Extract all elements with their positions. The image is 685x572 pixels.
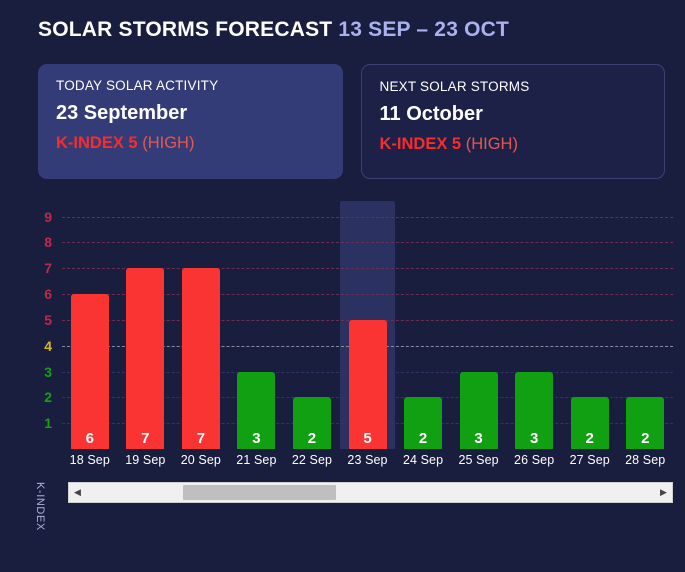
- bar-slot[interactable]: 5: [340, 201, 396, 449]
- bar-value-label: 2: [308, 431, 316, 446]
- bar-value-label: 3: [252, 431, 260, 446]
- k-index-chart: 987654321 67732523322 18 Sep19 Sep20 Sep…: [0, 201, 685, 521]
- bar-slot[interactable]: 7: [118, 201, 174, 449]
- summary-cards: TODAY SOLAR ACTIVITY 23 September K-INDE…: [0, 44, 685, 179]
- bar-slot[interactable]: 6: [62, 201, 118, 449]
- forecast-date-range: 13 SEP – 23 OCT: [338, 18, 509, 41]
- bar[interactable]: 5: [349, 320, 387, 449]
- bar[interactable]: 6: [71, 294, 109, 449]
- bar-slot[interactable]: 7: [173, 201, 229, 449]
- card-today-solar-activity[interactable]: TODAY SOLAR ACTIVITY 23 September K-INDE…: [38, 64, 343, 179]
- bar-value-label: 2: [419, 431, 427, 446]
- bar-slot[interactable]: 3: [506, 201, 562, 449]
- y-axis-tick: 8: [44, 235, 52, 249]
- x-axis-tick: 18 Sep: [62, 453, 118, 467]
- y-axis-ticks: 987654321: [30, 201, 52, 449]
- x-axis-tick: 23 Sep: [340, 453, 396, 467]
- bar-slot[interactable]: 3: [451, 201, 507, 449]
- x-axis-tick: 20 Sep: [173, 453, 229, 467]
- chart-horizontal-scrollbar[interactable]: ◀ ▶: [68, 482, 673, 503]
- bar-series: 67732523322: [62, 201, 673, 449]
- bar-value-label: 3: [530, 431, 538, 446]
- y-axis-tick: 2: [44, 390, 52, 404]
- x-axis-tick: 28 Sep: [617, 453, 673, 467]
- bar-slot[interactable]: 2: [562, 201, 618, 449]
- y-axis-tick: 9: [44, 210, 52, 224]
- x-axis-tick: 27 Sep: [562, 453, 618, 467]
- page-header: SOLAR STORMS FORECAST13 SEP – 23 OCT: [0, 0, 685, 44]
- card-date: 23 September: [56, 102, 343, 125]
- bar-value-label: 6: [86, 431, 94, 446]
- bar[interactable]: 2: [571, 397, 609, 449]
- card-date: 11 October: [380, 103, 665, 126]
- bar[interactable]: 3: [515, 372, 553, 450]
- card-k-index: K-INDEX 5 (HIGH): [380, 135, 665, 154]
- bar[interactable]: 2: [404, 397, 442, 449]
- bar-value-label: 7: [197, 431, 205, 446]
- y-axis-title: K-INDEX: [34, 482, 46, 531]
- card-next-solar-storms[interactable]: NEXT SOLAR STORMS 11 October K-INDEX 5 (…: [361, 64, 666, 179]
- card-k-index-level: (HIGH): [142, 134, 194, 152]
- bar-slot[interactable]: 2: [284, 201, 340, 449]
- page-title: SOLAR STORMS FORECAST: [38, 18, 332, 41]
- x-axis-tick: 19 Sep: [118, 453, 174, 467]
- bar[interactable]: 7: [182, 268, 220, 449]
- bar-slot[interactable]: 3: [229, 201, 285, 449]
- x-axis-tick: 25 Sep: [451, 453, 507, 467]
- bar[interactable]: 3: [237, 372, 275, 450]
- x-axis-ticks: 18 Sep19 Sep20 Sep21 Sep22 Sep23 Sep24 S…: [62, 453, 673, 467]
- x-axis-tick: 24 Sep: [395, 453, 451, 467]
- bar[interactable]: 2: [293, 397, 331, 449]
- bar-value-label: 2: [586, 431, 594, 446]
- card-k-index-value: K-INDEX 5: [56, 134, 138, 152]
- x-axis-tick: 22 Sep: [284, 453, 340, 467]
- bar[interactable]: 7: [126, 268, 164, 449]
- card-k-index-level: (HIGH): [466, 135, 518, 153]
- y-axis-tick: 7: [44, 261, 52, 275]
- y-axis-tick: 1: [44, 416, 52, 430]
- y-axis-tick: 6: [44, 287, 52, 301]
- x-axis-tick: 21 Sep: [229, 453, 285, 467]
- scrollbar-track[interactable]: [86, 483, 655, 502]
- card-label: NEXT SOLAR STORMS: [380, 79, 665, 94]
- bar[interactable]: 2: [626, 397, 664, 449]
- bar-value-label: 2: [641, 431, 649, 446]
- bar[interactable]: 3: [460, 372, 498, 450]
- card-k-index: K-INDEX 5 (HIGH): [56, 134, 343, 153]
- y-axis-tick: 4: [44, 339, 52, 353]
- bar-slot[interactable]: 2: [617, 201, 673, 449]
- scrollbar-thumb[interactable]: [183, 485, 337, 500]
- card-label: TODAY SOLAR ACTIVITY: [56, 78, 343, 93]
- y-axis-tick: 5: [44, 313, 52, 327]
- scroll-left-arrow-icon[interactable]: ◀: [69, 488, 86, 497]
- bar-value-label: 7: [141, 431, 149, 446]
- bar-slot[interactable]: 2: [395, 201, 451, 449]
- scroll-right-arrow-icon[interactable]: ▶: [655, 488, 672, 497]
- chart-plot-area: 67732523322: [62, 201, 673, 449]
- x-axis-tick: 26 Sep: [506, 453, 562, 467]
- bar-value-label: 5: [363, 431, 371, 446]
- y-axis-tick: 3: [44, 365, 52, 379]
- card-k-index-value: K-INDEX 5: [380, 135, 462, 153]
- bar-value-label: 3: [474, 431, 482, 446]
